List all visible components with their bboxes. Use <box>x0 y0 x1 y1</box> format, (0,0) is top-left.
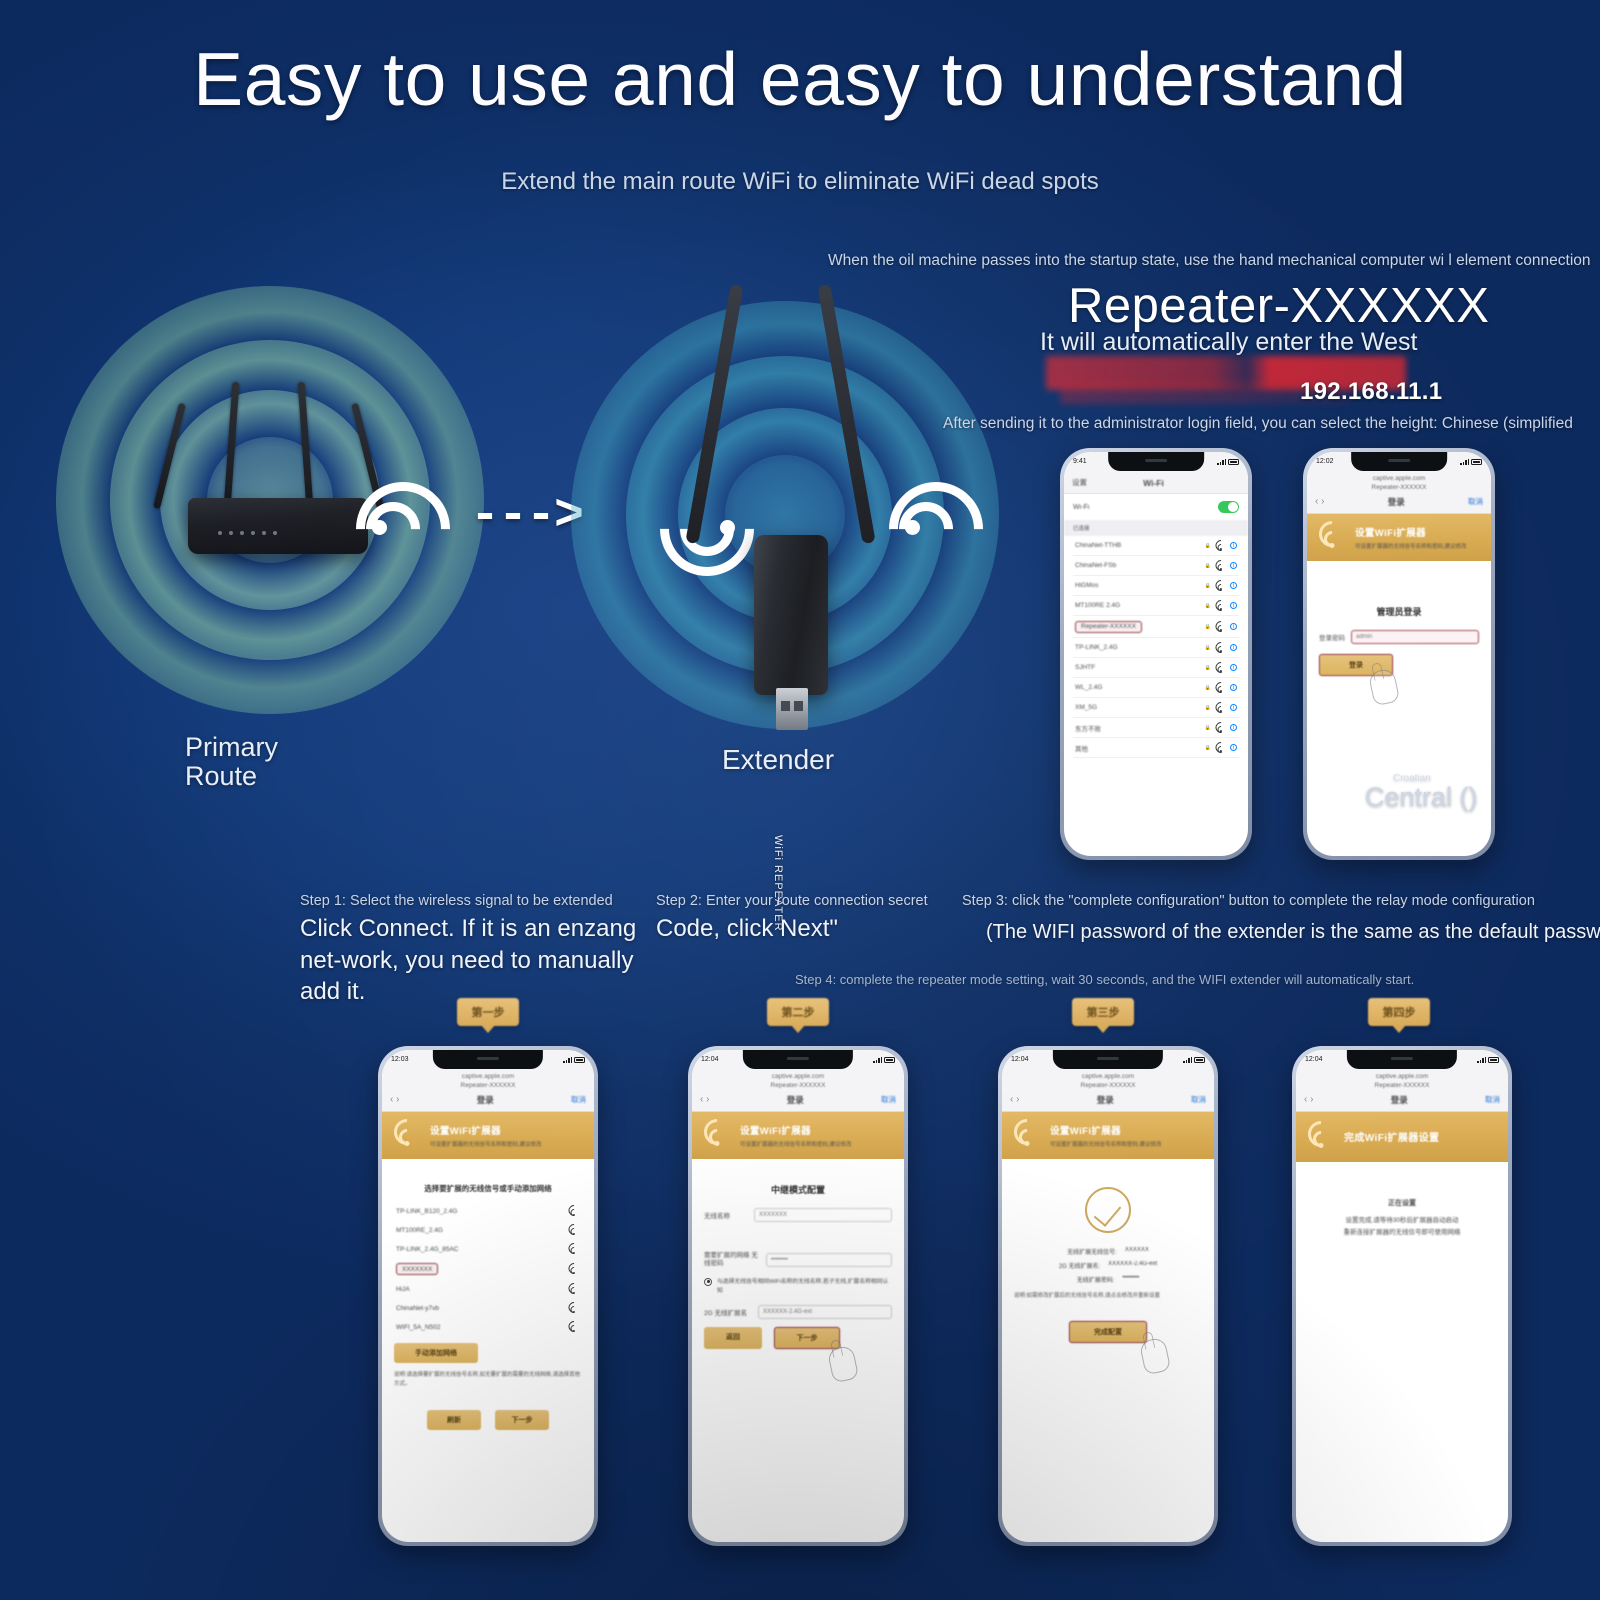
central-overlay-label: Central () <box>1365 782 1478 812</box>
captive-url-host: captive.apple.com <box>1307 474 1491 483</box>
wifi-strength-icon <box>567 1322 580 1332</box>
info-icon[interactable]: i <box>1230 724 1237 731</box>
wifi-network-row[interactable]: 其他🔒i <box>1073 738 1239 758</box>
nav-cancel[interactable]: 取消 <box>1485 1094 1500 1105</box>
extendable-network-name: TP-LINK_2.4G_85AC <box>396 1246 459 1253</box>
central-overlay-text: Croatian Central () <box>1365 782 1478 813</box>
lock-icon: 🔒 <box>1205 624 1211 630</box>
lock-icon: 🔒 <box>1205 665 1211 671</box>
extendable-network-row[interactable]: ChinaNet-y7vb <box>394 1299 582 1318</box>
summary-label: 无线扩展密码: <box>1077 1275 1115 1284</box>
captive-url-ssid: Repeater-XXXXXX <box>382 1081 594 1090</box>
lock-icon: 🔒 <box>1205 583 1211 589</box>
phone-step2-relay-config: 12:04 captive.apple.com Repeater-XXXXXX … <box>688 1046 908 1546</box>
nav-back-forward[interactable]: ‹ › <box>1304 1094 1313 1105</box>
extender-label: Extender <box>722 745 834 775</box>
wifi-strength-icon <box>1214 743 1227 753</box>
step-3-big: (The WIFI password of the extender is th… <box>986 919 1600 945</box>
portal-header: 完成WiFi扩展器设置 <box>1296 1112 1508 1162</box>
phone-wifi-settings: 9:41 设置 Wi-Fi Wi-Fi 已连接 <box>1060 448 1252 860</box>
step1-note: 说明:请选择要扩展的无线信号名称,如无要扩展的需要的无线网络,请选择其他方式。 <box>394 1371 582 1389</box>
status-time: 12:03 <box>391 1056 409 1063</box>
phone-notch <box>1053 1050 1163 1069</box>
config-summary-row: 无线扩展密码:•••••••• <box>1014 1275 1202 1284</box>
wifi-network-name: TP-LINK_2.4G <box>1075 644 1118 651</box>
wifi-strength-icon <box>567 1303 580 1313</box>
wifi-network-name: SJHTF <box>1075 664 1095 671</box>
captive-url-host: captive.apple.com <box>692 1072 904 1081</box>
relay-password-label: 需要扩展的网络 无线密码 <box>704 1252 760 1269</box>
ssid-label: 无线名称 <box>704 1210 748 1220</box>
ssid-input[interactable]: XXXXXXX <box>754 1208 892 1222</box>
ip-address-text: 192.168.11.1 <box>1300 378 1442 406</box>
step-4-small: Step 4: complete the repeater mode setti… <box>795 972 1595 987</box>
wifi-toggle-switch[interactable] <box>1218 501 1239 513</box>
back-button[interactable]: 返回 <box>704 1327 762 1349</box>
info-icon[interactable]: i <box>1230 542 1237 549</box>
wifi-strength-icon <box>567 1264 580 1274</box>
info-icon[interactable]: i <box>1230 704 1237 711</box>
wifi-toggle-row[interactable]: Wi-Fi <box>1064 493 1248 520</box>
extendable-network-row[interactable]: TP-LINK_B120_2.4G <box>394 1202 582 1221</box>
portal-header-title: 设置WiFi扩展器 <box>430 1123 542 1137</box>
page-subtitle: Extend the main route WiFi to eliminate … <box>0 168 1600 196</box>
wifi-network-row[interactable]: ChinaNet-TTHB🔒i <box>1073 536 1239 556</box>
wifi-network-row[interactable]: MT100RE 2.4G🔒i <box>1073 596 1239 616</box>
status-time: 12:04 <box>1011 1056 1029 1063</box>
wifi-strength-icon <box>567 1284 580 1294</box>
signal-bars-icon <box>1217 459 1226 465</box>
wifi-network-row[interactable]: TP-LINK_2.4G🔒i <box>1073 638 1239 658</box>
wifi-strength-icon <box>1214 541 1227 551</box>
lock-icon: 🔒 <box>1205 685 1211 691</box>
wifi-network-name: ChinaNet-FSb <box>1075 562 1116 569</box>
nav-back-forward[interactable]: ‹ › <box>390 1094 399 1105</box>
info-icon[interactable]: i <box>1230 744 1237 751</box>
wifi-strength-icon <box>567 1206 580 1216</box>
status-time: 12:02 <box>1316 458 1334 465</box>
wifi-toggle-label: Wi-Fi <box>1073 504 1089 511</box>
nav-cancel[interactable]: 取消 <box>1468 496 1483 507</box>
step-2-caption: Step 2: Enter your route connection secr… <box>656 893 956 945</box>
wifi-nav-back[interactable]: 设置 <box>1072 477 1087 488</box>
nav-title: 登录 <box>1097 1094 1114 1106</box>
login-form-title: 管理员登录 <box>1319 605 1479 618</box>
dongle-chassis: WiFi REPEATER <box>754 535 828 695</box>
wifi-row-icons: 🔒i <box>1205 703 1237 713</box>
extendable-network-name: HiJA <box>396 1286 410 1293</box>
wifi-icon <box>1012 1123 1042 1147</box>
portal-header-subtitle: 可设置扩展器的无线信号名称和密码,建议修改 <box>1355 542 1467 550</box>
nav-cancel[interactable]: 取消 <box>1191 1094 1206 1105</box>
portal-header-subtitle: 可设置扩展器的无线信号名称和密码,建议修改 <box>430 1140 542 1148</box>
nav-title: 登录 <box>1388 496 1405 508</box>
portal-header: 设置WiFi扩展器 可设置扩展器的无线信号名称和密码,建议修改 <box>382 1112 594 1159</box>
wifi-icon <box>1317 525 1347 549</box>
wifi-strength-icon <box>567 1225 580 1235</box>
battery-icon <box>884 1057 895 1063</box>
battery-icon <box>1471 459 1482 465</box>
wifi-network-row[interactable]: SJHTF🔒i <box>1073 658 1239 678</box>
wifi-network-row[interactable]: ChinaNet-FSb🔒i <box>1073 556 1239 576</box>
right-text-line-1: When the oil machine passes into the sta… <box>828 252 1591 270</box>
wifi-network-name: 其他 <box>1075 743 1088 753</box>
wifi-row-icons: 🔒i <box>1205 541 1237 551</box>
step-2-big: Code, click Next" <box>656 913 956 945</box>
nav-back-forward[interactable]: ‹ › <box>1315 496 1324 507</box>
step-badge-1: 第一步 <box>457 998 519 1026</box>
summary-value: •••••••• <box>1122 1275 1139 1284</box>
step-4-caption: Step 4: complete the repeater mode setti… <box>795 972 1595 987</box>
battery-icon <box>1194 1057 1205 1063</box>
signal-bars-icon <box>873 1057 882 1063</box>
complete-config-button[interactable]: 完成配置 <box>1069 1321 1147 1343</box>
wifi-row-icons: 🔒i <box>1205 581 1237 591</box>
config-summary-row: 2G 无线扩展名:XXXXXX-2.4G-ext <box>1014 1261 1202 1270</box>
same-name-radio-label: 与选择无线信号相同WiFi名称的无线名称,若子无线,扩展名称相同认知 <box>717 1278 892 1297</box>
step-2-small: Step 2: Enter your route connection secr… <box>656 893 956 909</box>
info-icon[interactable]: i <box>1230 664 1237 671</box>
wifi-icon <box>702 1123 732 1147</box>
captive-url-ssid: Repeater-XXXXXX <box>1296 1081 1508 1090</box>
nav-back-forward[interactable]: ‹ › <box>1010 1094 1019 1105</box>
wifi-network-row[interactable]: Repeater-XXXXXX🔒i <box>1073 616 1239 638</box>
extendable-network-row[interactable]: HiJA <box>394 1280 582 1299</box>
refresh-button[interactable]: 刷新 <box>427 1410 481 1430</box>
wifi-network-name: MT100RE 2.4G <box>1075 602 1120 609</box>
wifi-row-icons: 🔒i <box>1205 723 1237 733</box>
wifi-strength-icon <box>1214 663 1227 673</box>
captive-url-host: captive.apple.com <box>1296 1072 1508 1081</box>
nav-back-forward[interactable]: ‹ › <box>700 1094 709 1105</box>
wifi-row-icons: 🔒i <box>1205 663 1237 673</box>
nav-title: 登录 <box>787 1094 804 1106</box>
info-icon[interactable]: i <box>1230 602 1237 609</box>
wifi-network-row[interactable]: HiGMos🔒i <box>1073 576 1239 596</box>
wifi-network-name: ChinaNet-TTHB <box>1075 542 1121 549</box>
right-text-line-2: It will automatically enter the West <box>1040 328 1417 357</box>
summary-value: XXXXXX-2.4G-ext <box>1108 1261 1157 1270</box>
wifi-row-icons: 🔒i <box>1205 561 1237 571</box>
step-badge-4: 第四步 <box>1368 998 1430 1026</box>
info-icon[interactable]: i <box>1230 684 1237 691</box>
status-time: 12:04 <box>701 1056 719 1063</box>
wifi-network-row[interactable]: XM_5G🔒i <box>1073 698 1239 718</box>
wifi-network-row[interactable]: 东方不败🔒i <box>1073 718 1239 738</box>
relay-password-input[interactable]: •••••••• <box>766 1253 892 1267</box>
primary-route-label-line2: Route <box>185 761 257 791</box>
signal-bars-icon <box>563 1057 572 1063</box>
wifi-row-icons: 🔒i <box>1205 622 1237 632</box>
wifi-strength-icon <box>1214 581 1227 591</box>
wifi-network-name: Repeater-XXXXXX <box>1075 621 1142 633</box>
hand-cursor-icon <box>827 1345 860 1384</box>
info-icon[interactable]: i <box>1230 644 1237 651</box>
wifi-row-icons: 🔒i <box>1205 601 1237 611</box>
captive-url-ssid: Repeater-XXXXXX <box>1002 1081 1214 1090</box>
portal-header-subtitle: 可设置扩展器的无线信号名称和密码,建议修改 <box>1050 1140 1162 1148</box>
right-text-line-3: After sending it to the administrator lo… <box>943 415 1573 433</box>
signal-bars-icon <box>1477 1057 1486 1063</box>
wifi-strength-icon <box>1214 683 1227 693</box>
primary-route-label: Primary Route <box>185 733 278 791</box>
next-button[interactable]: 下一步 <box>495 1410 549 1430</box>
summary-value: XXXXXX <box>1125 1247 1149 1256</box>
step-3-caption: Step 3: click the "complete configuratio… <box>962 893 1600 945</box>
step-badge-3: 第三步 <box>1072 998 1134 1026</box>
extendable-network-name: ChinaNet-y7vb <box>396 1305 439 1312</box>
captive-url-ssid: Repeater-XXXXXX <box>1307 483 1491 492</box>
portal-header: 设置WiFi扩展器 可设置扩展器的无线信号名称和密码,建议修改 <box>692 1112 904 1159</box>
phone-step1-select-network: 12:03 captive.apple.com Repeater-XXXXXX … <box>378 1046 598 1546</box>
lock-icon: 🔒 <box>1205 725 1211 731</box>
wifi-strength-icon <box>1214 703 1227 713</box>
wifi-row-icons: 🔒i <box>1205 643 1237 653</box>
wifi-network-name: XM_5G <box>1075 704 1097 711</box>
signal-bars-icon <box>1183 1057 1192 1063</box>
lock-icon: 🔒 <box>1205 705 1211 711</box>
step-1-big: Click Connect. If it is an enzang net-wo… <box>300 913 660 1008</box>
wifi-strength-icon <box>1214 561 1227 571</box>
phone-notch <box>1108 452 1204 471</box>
phone-notch <box>1351 452 1447 471</box>
wifi-strength-icon <box>567 1244 580 1254</box>
phone-step3-confirm: 12:04 captive.apple.com Repeater-XXXXXX … <box>998 1046 1218 1546</box>
nav-cancel[interactable]: 取消 <box>571 1094 586 1105</box>
portal-header: 设置WiFi扩展器 可设置扩展器的无线信号名称和密码,建议修改 <box>1307 514 1491 561</box>
repeater-ssid-heading: Repeater-XXXXXX <box>1068 278 1490 334</box>
battery-icon <box>1488 1057 1499 1063</box>
nav-title: 登录 <box>477 1094 494 1106</box>
wifi-network-row[interactable]: WL_2.4G🔒i <box>1073 678 1239 698</box>
primary-route-label-line1: Primary <box>185 732 278 762</box>
wifi-network-name: HiGMos <box>1075 582 1098 589</box>
wifi-section-label: 已连接 <box>1064 520 1248 536</box>
step-1-small: Step 1: Select the wireless signal to be… <box>300 893 660 909</box>
lock-icon: 🔒 <box>1205 543 1211 549</box>
extendable-network-name: MT100RE_2.4G <box>396 1227 443 1234</box>
wifi-strength-icon <box>1214 643 1227 653</box>
complete-message-line2: 设置完成,请等待30秒后扩展器自动启动 <box>1308 1215 1496 1227</box>
router-chassis <box>188 498 368 554</box>
success-check-icon <box>1085 1187 1131 1233</box>
summary-label: 2G 无线扩展名: <box>1059 1261 1100 1270</box>
step-3-small: Step 3: click the "complete configuratio… <box>962 893 1600 909</box>
portal-header-title: 完成WiFi扩展器设置 <box>1344 1129 1439 1144</box>
battery-icon <box>574 1057 585 1063</box>
captive-url-host: captive.apple.com <box>1002 1072 1214 1081</box>
password-label: 登录密码 <box>1319 632 1345 642</box>
wifi-nav-title: Wi-Fi <box>1143 478 1164 488</box>
wifi-row-icons: 🔒i <box>1205 683 1237 693</box>
lock-icon: 🔒 <box>1205 745 1211 751</box>
portal-header-subtitle: 可设置扩展器的无线信号名称和密码,建议修改 <box>740 1140 852 1148</box>
ext-name-input[interactable]: XXXXXX-2.4G-ext <box>758 1305 892 1319</box>
complete-message-line1: 正在设置 <box>1308 1198 1496 1208</box>
router-led-indicators <box>218 531 277 535</box>
captive-url-host: captive.apple.com <box>382 1072 594 1081</box>
wifi-icon <box>392 1123 422 1147</box>
info-icon[interactable]: i <box>1230 582 1237 589</box>
lock-icon: 🔒 <box>1205 603 1211 609</box>
config-summary-list: 无线扩展无线信号:XXXXXX2G 无线扩展名:XXXXXX-2.4G-ext无… <box>1014 1247 1202 1284</box>
nav-title: 登录 <box>1391 1094 1408 1106</box>
page-title: Easy to use and easy to understand <box>0 36 1600 122</box>
network-list-title: 选择要扩展的无线信号或手动添加网络 <box>394 1183 582 1194</box>
config-summary-row: 无线扩展无线信号:XXXXXX <box>1014 1247 1202 1256</box>
step3-note: 说明:如需修改扩展后的无线信号名称,请点击修改并重新设置 <box>1014 1292 1202 1301</box>
wifi-strength-icon <box>1214 622 1227 632</box>
wifi-strength-icon <box>1214 601 1227 611</box>
battery-icon <box>1228 459 1239 465</box>
flow-arrow: ---> <box>470 488 582 545</box>
hand-cursor-icon <box>1139 1336 1172 1375</box>
usb-connector <box>776 688 808 730</box>
password-input[interactable]: admin <box>1351 630 1479 644</box>
extendable-network-list[interactable]: TP-LINK_B120_2.4GMT100RE_2.4GTP-LINK_2.4… <box>394 1202 582 1337</box>
info-icon[interactable]: i <box>1230 562 1237 569</box>
hand-cursor-icon <box>1368 668 1401 707</box>
summary-label: 无线扩展无线信号: <box>1067 1247 1117 1256</box>
portal-header-title: 设置WiFi扩展器 <box>1355 525 1467 539</box>
phone-notch <box>743 1050 853 1069</box>
manual-add-network-button[interactable]: 手动添加网络 <box>394 1343 478 1363</box>
ext-name-label: 2G 无线扩展名 <box>704 1307 752 1317</box>
phone-step4-complete: 12:04 captive.apple.com Repeater-XXXXXX … <box>1292 1046 1512 1546</box>
info-icon[interactable]: i <box>1230 623 1237 630</box>
central-overlay-tiny: Croatian <box>1393 773 1431 784</box>
relay-config-title: 中继模式配置 <box>704 1183 892 1196</box>
wifi-network-name: 东方不败 <box>1075 723 1101 733</box>
same-name-radio[interactable] <box>704 1278 712 1286</box>
extendable-network-name: XXXXXXX <box>396 1263 438 1275</box>
extendable-network-row[interactable]: XXXXXXX <box>394 1259 582 1280</box>
extendable-network-row[interactable]: MT100RE_2.4G <box>394 1221 582 1240</box>
extendable-network-row[interactable]: WIFI_5A_N502 <box>394 1318 582 1337</box>
infographic-canvas: Easy to use and easy to understand Exten… <box>0 0 1600 1600</box>
status-time: 9:41 <box>1073 458 1087 465</box>
phone-notch <box>433 1050 543 1069</box>
status-time: 12:04 <box>1305 1056 1323 1063</box>
wifi-strength-icon <box>1214 723 1227 733</box>
wifi-icon <box>1306 1125 1336 1149</box>
extendable-network-name: WIFI_5A_N502 <box>396 1324 440 1331</box>
wifi-repeater-dongle: WiFi REPEATER <box>740 275 860 735</box>
extendable-network-name: TP-LINK_B120_2.4G <box>396 1208 457 1215</box>
step-1-caption: Step 1: Select the wireless signal to be… <box>300 893 660 1008</box>
portal-header-title: 设置WiFi扩展器 <box>740 1123 852 1137</box>
step-badge-2: 第二步 <box>767 998 829 1026</box>
nav-cancel[interactable]: 取消 <box>881 1094 896 1105</box>
lock-icon: 🔒 <box>1205 645 1211 651</box>
portal-header: 设置WiFi扩展器 可设置扩展器的无线信号名称和密码,建议修改 <box>1002 1112 1214 1159</box>
wifi-network-list[interactable]: ChinaNet-TTHB🔒iChinaNet-FSb🔒iHiGMos🔒iMT1… <box>1064 536 1248 758</box>
captive-url-ssid: Repeater-XXXXXX <box>692 1081 904 1090</box>
lock-icon: 🔒 <box>1205 563 1211 569</box>
complete-message-line3: 重新连接扩展器的无线信号即可使用网络 <box>1308 1227 1496 1239</box>
wifi-network-name: WL_2.4G <box>1075 684 1102 691</box>
phone-notch <box>1347 1050 1457 1069</box>
wifi-row-icons: 🔒i <box>1205 743 1237 753</box>
signal-bars-icon <box>1460 459 1469 465</box>
portal-header-title: 设置WiFi扩展器 <box>1050 1123 1162 1137</box>
extendable-network-row[interactable]: TP-LINK_2.4G_85AC <box>394 1240 582 1259</box>
